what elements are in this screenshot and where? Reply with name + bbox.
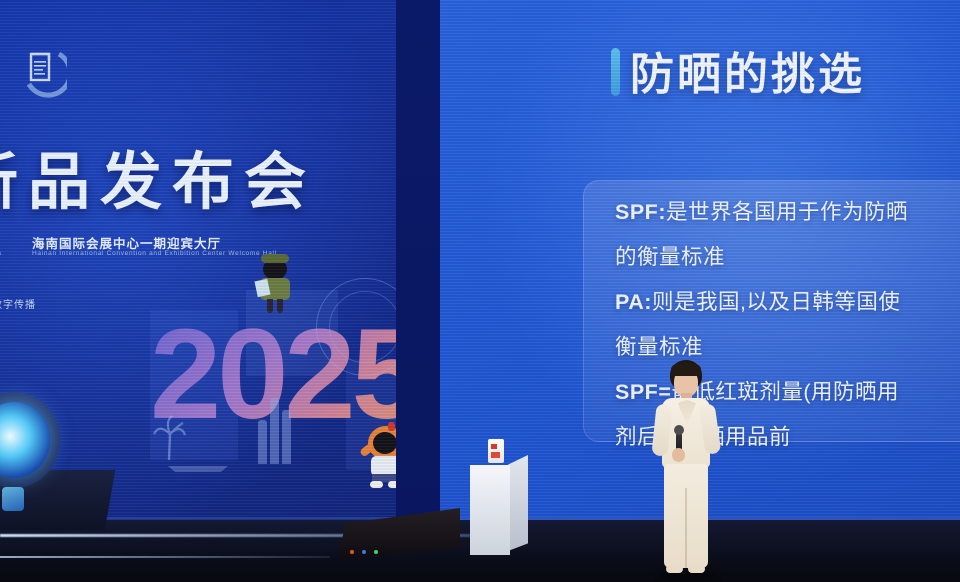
bullet-text: 衡量标准 [615,335,703,359]
bullet-text: 则是我国,以及日韩等国使 [652,290,900,314]
mascot-character-green [252,252,298,314]
region-name-cn: 南 [0,233,1,250]
bullet-line: SPF:是世界各国用于作为防晒 [615,190,960,235]
presenter-trouser-seam [685,488,687,568]
presenter-shadow [658,572,718,580]
event-headline: 新品发布会 [0,131,316,221]
building-silhouettes [258,392,292,464]
presenter-shoe-right [688,565,705,573]
title-accent-bar [611,48,620,96]
presentation-stage-photo: 览会 PO 新品发布会 南 hina 海南国际会展中心一期迎宾大厅 Hainan… [0,0,960,582]
region-name-en: hina [0,250,2,257]
exhibition-logo-icon [15,44,67,98]
speaker-led-green [374,550,378,554]
presenter-shoe-left [666,565,683,573]
speaker-led-red [350,550,354,554]
slide-title: 防晒的挑选 [630,38,865,102]
podium [470,455,526,555]
screen-gap-wall [396,0,442,528]
presenter-hand [672,448,685,462]
bullet-line: PA:则是我国,以及日韩等国使 [615,280,960,325]
product-box [488,439,504,463]
bullet-text: 的衡量标准 [615,245,725,269]
presenter [640,360,732,580]
left-led-screen: 览会 PO 新品发布会 南 hina 海南国际会展中心一期迎宾大厅 Hainan… [0,0,404,528]
speaker-led-blue [362,550,366,554]
orb-badge-icon [2,487,24,511]
decorative-ring [316,278,404,376]
stage-strip-light-secondary [0,556,330,558]
event-brand-lockup: 览会 [0,44,67,98]
podium-front [470,465,510,555]
podium-side [508,455,528,551]
glowing-orb-prop [0,392,60,488]
presenter-fringe [671,362,701,376]
bullet-term: PA: [615,290,652,314]
palm-tree-icon [152,412,186,462]
bullet-line: 的衡量标准 [615,235,960,280]
venue-name-en: Hainan International Convention and Exhi… [32,250,277,257]
media-partner-label: 数字传播 [0,296,36,311]
bullet-text: 是世界各国用于作为防晒 [666,200,908,224]
bullet-term: SPF: [615,200,666,224]
